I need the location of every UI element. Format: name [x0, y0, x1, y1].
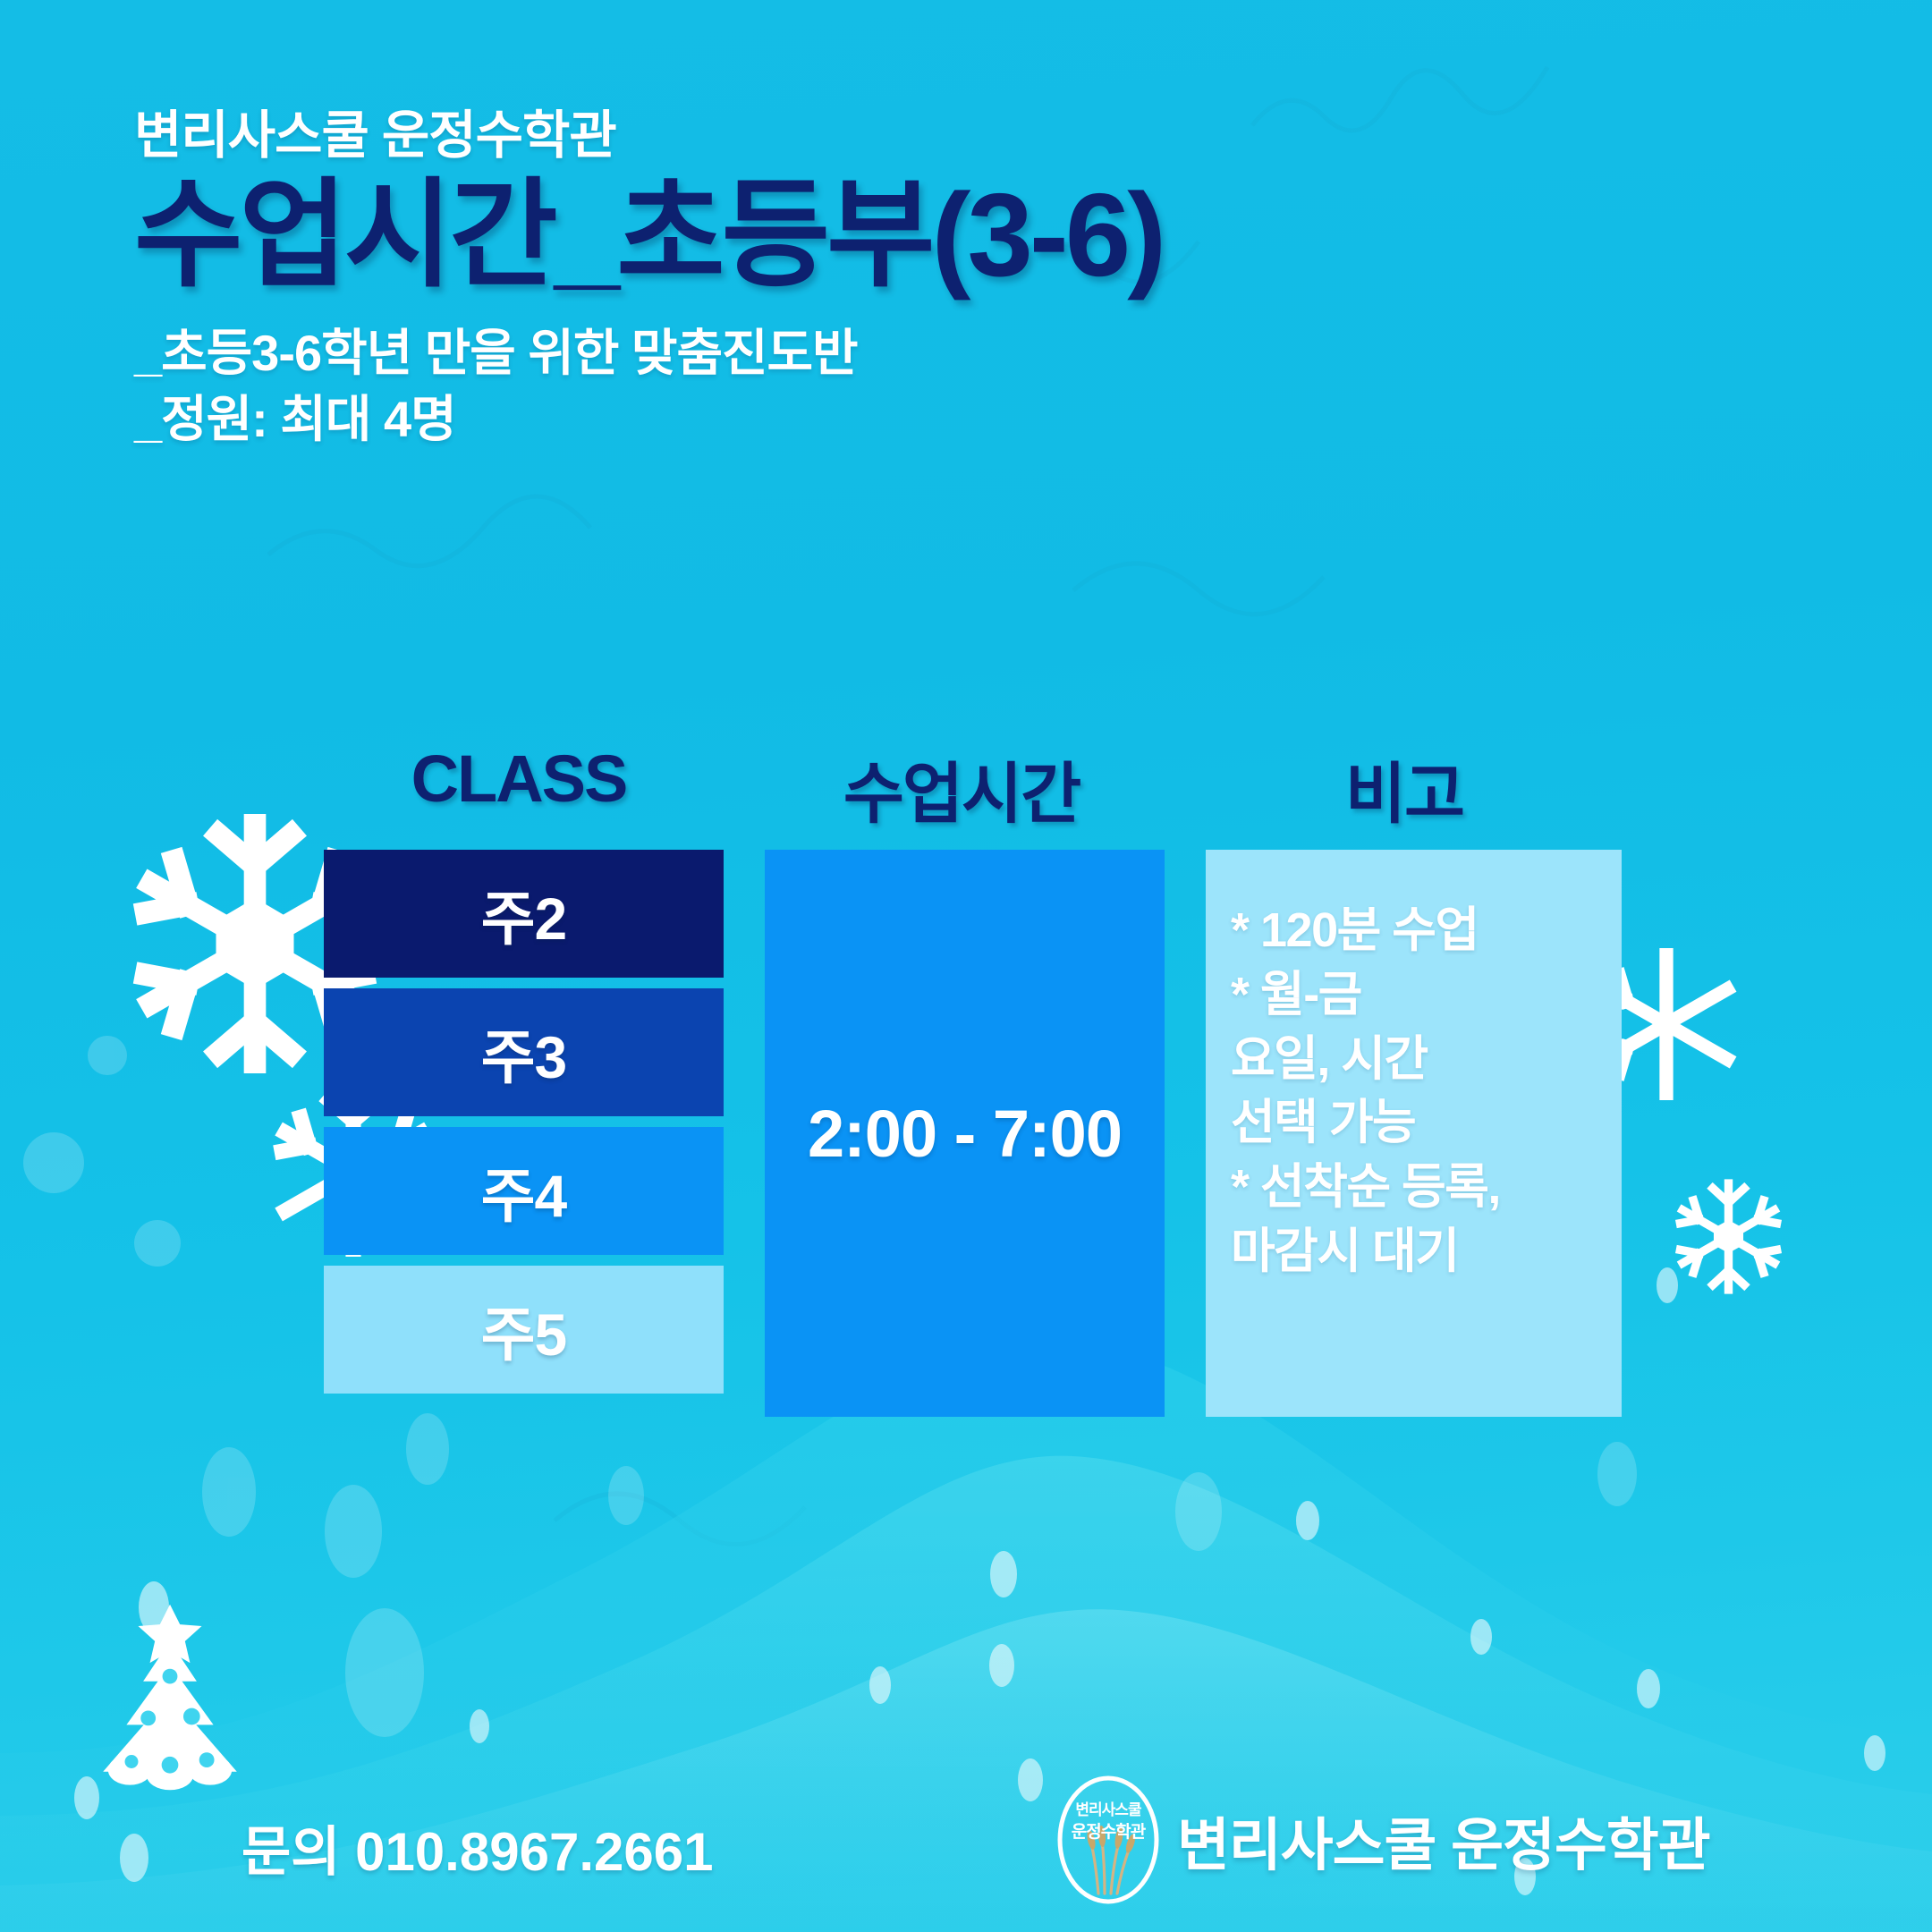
- column-header-note: 비고: [1190, 741, 1619, 836]
- note-line-3: 요일, 시간: [1231, 1028, 1622, 1092]
- class-row-ju4[interactable]: 주4: [324, 1127, 724, 1255]
- subtitle-line-2: _정원: 최대 4명: [134, 386, 1476, 453]
- column-header-class: CLASS: [322, 741, 716, 817]
- subtitle-line-1: _초등3-6학년 만을 위한 맞춤진도반: [134, 320, 1476, 386]
- header-block: 변리사스쿨 운정수학관 수업시간_초등부(3-6) _초등3-6학년 만을 위한…: [134, 107, 1476, 453]
- note-line-4: 선택 가능: [1231, 1091, 1622, 1156]
- poster-canvas: 변리사스쿨 운정수학관 수업시간_초등부(3-6) _초등3-6학년 만을 위한…: [0, 0, 1932, 1932]
- snowflake-icon: [1668, 1176, 1789, 1297]
- subtitle-group: _초등3-6학년 만을 위한 맞춤진도반 _정원: 최대 4명: [134, 320, 1476, 453]
- class-row-ju5[interactable]: 주5: [324, 1266, 724, 1394]
- footer-brand-name: 변리사스쿨 운정수학관: [1177, 1800, 1710, 1882]
- logo-icon: 변리사스쿨 운정수학관: [1055, 1775, 1161, 1905]
- note-line-6: 마감시 대기: [1231, 1220, 1622, 1284]
- logo-text-line-2: 운정수학관: [1055, 1818, 1161, 1843]
- christmas-tree-icon: [85, 1601, 255, 1793]
- note-line-5: * 선착순 등록,: [1231, 1156, 1622, 1220]
- page-title: 수업시간_초등부(3-6): [134, 174, 1476, 298]
- time-cell: 2:00 - 7:00: [765, 850, 1165, 1417]
- table-header-row: CLASS 수업시간 비고: [0, 741, 1932, 830]
- class-row-ju2[interactable]: 주2: [324, 850, 724, 978]
- class-column: 주2 주3 주4 주5: [324, 850, 724, 1404]
- logo-text-line-1: 변리사스쿨: [1055, 1797, 1161, 1819]
- note-line-1: * 120분 수업: [1231, 899, 1622, 963]
- note-cell: * 120분 수업 * 월-금 요일, 시간 선택 가능 * 선착순 등록, 마…: [1206, 850, 1622, 1417]
- column-header-time: 수업시간: [756, 741, 1167, 836]
- footer-brand: 변리사스쿨 운정수학관 변리사스쿨 운정수학관: [1055, 1775, 1710, 1905]
- contact-text: 문의 010.8967.2661: [241, 1809, 713, 1886]
- brand-line: 변리사스쿨 운정수학관: [134, 107, 1476, 165]
- note-line-2: * 월-금: [1231, 963, 1622, 1028]
- time-value: 2:00 - 7:00: [808, 1096, 1122, 1172]
- class-row-ju3[interactable]: 주3: [324, 988, 724, 1116]
